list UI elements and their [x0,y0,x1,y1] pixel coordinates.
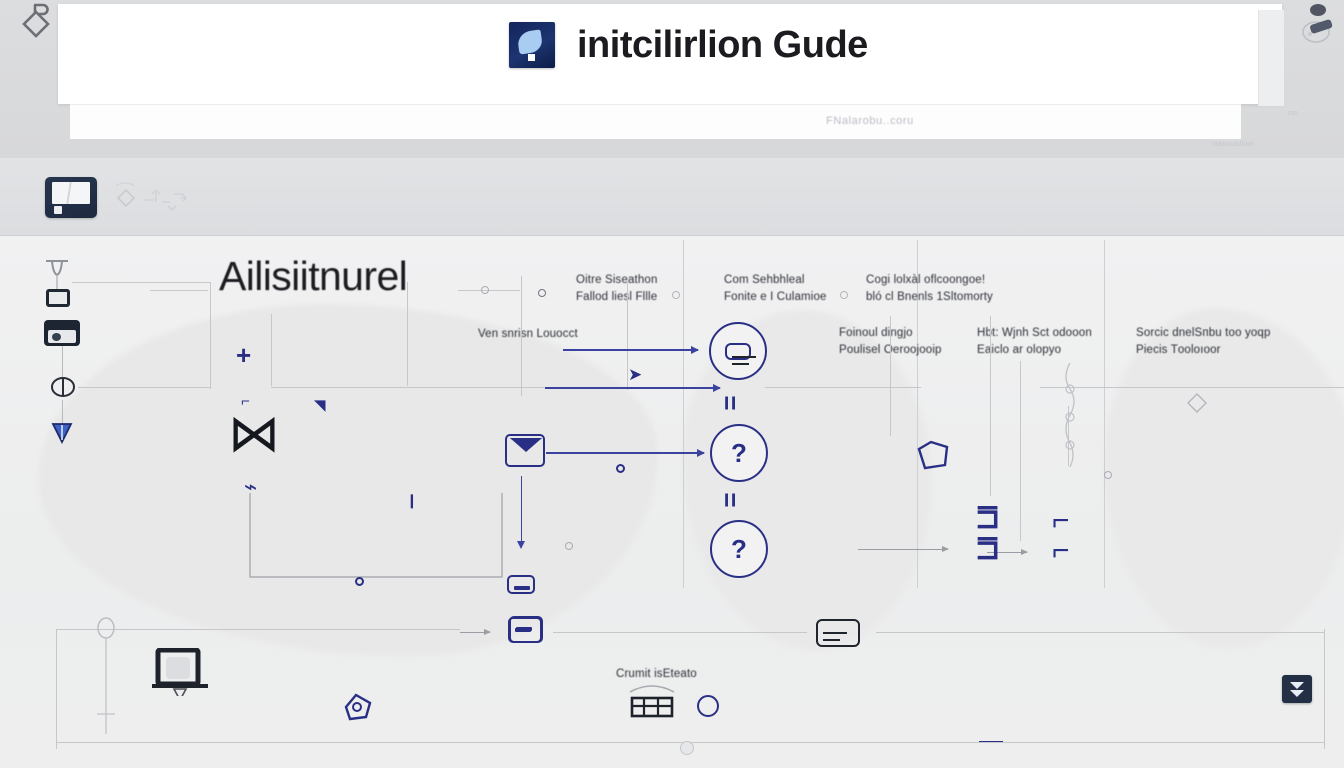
download-chevron-icon[interactable] [1282,675,1312,703]
shape-glyph-4-icon: ⌐ [1052,534,1070,568]
page-title: initcilirlion Gude [577,24,868,67]
diamond-small-icon [1185,391,1209,415]
label-col2: Com Sehbhleal Fonite e I Culamioe [724,272,827,306]
tag-glyph-icon[interactable] [915,439,951,473]
node-dot-1[interactable] [355,577,364,586]
document-page-second [70,104,1241,139]
bracket-path [248,491,506,583]
mark-glyph-icon [975,736,1007,768]
note-card-right-icon[interactable] [816,619,860,647]
node-1[interactable] [709,322,767,380]
label-col3: Cogi lolxàl oflcoongoe! bló cl Bnenls 1S… [866,272,993,306]
rule-v-6 [890,316,891,436]
tray-icon[interactable] [46,289,70,307]
rule-h-3 [765,387,921,388]
antenna-icon[interactable] [42,256,72,292]
window-app-icon[interactable] [45,177,97,218]
screenshot-root: initcilirlion Gude FNalarobu..coru manuu… [0,0,1344,768]
arrow-gray-3 [460,632,490,633]
label-col1: Oitre Siseathon Fallod liesl Fllle [576,272,658,306]
document-page-edge [1258,10,1284,106]
heading-rule-left [150,290,208,291]
document-edge-note: manuuoltion [1212,141,1255,148]
bottom-rule-2 [553,632,807,633]
label-mid-left: Ven snrisn Louocct [478,326,578,343]
rule-v-7 [990,316,991,496]
column-divider-1 [683,240,684,588]
rule-v-8 [1020,361,1021,541]
bottom-handle[interactable] [680,741,694,755]
m-bracket-icon: ⋈ [228,408,280,460]
arrow-to-node-2 [546,452,704,454]
document-header-band: initcilirlion Gude FNalarobu..coru manuu… [0,0,1344,158]
separator-dot-2 [840,291,848,299]
pin-marker-icon[interactable] [340,691,376,725]
node-dot-5 [565,542,573,550]
node-dot-2[interactable] [616,464,625,473]
node-dot-6 [1104,471,1112,479]
rule-h-1 [271,387,547,388]
canvas-heading: Ailisiitnurel [219,253,407,300]
rule-v-1 [210,282,211,389]
toolbar: Demsendl: ocihone Loobe videnl untrosser… [0,158,1344,236]
bottom-chip-icon[interactable] [509,616,543,643]
chain-decor-icon [1040,361,1100,471]
arrow-to-node-1 [563,349,698,351]
tie-line-1 [72,282,210,283]
node-3[interactable]: ? [710,520,768,578]
bench-icon[interactable] [628,684,676,720]
lamp-icon [95,616,117,736]
document-corner-note: mo [1288,110,1298,117]
shape-glyph-3-icon: ⌐ [1052,504,1070,538]
separator-dot-1 [672,291,680,299]
connector-1: = [718,395,744,410]
circle-outline-icon[interactable] [697,695,719,717]
flag-glyph-icon: ◥ [314,396,326,414]
node-2[interactable]: ? [710,424,768,482]
monitor-frame-icon[interactable] [152,648,208,696]
diamond-outline-icon [14,2,58,46]
caret-glyph-icon: ➤ [628,365,642,385]
label-mid-b: Hbt: Wjnh Sct odooon Eaiclo ar oloрyo [977,325,1092,359]
background-blob-left [38,304,658,656]
column-divider-3 [1104,240,1105,588]
tie-line-2 [78,387,210,388]
bottom-rule-v-left [56,629,57,749]
document-title-row: initcilirlion Gude [509,22,868,68]
pin-down-icon[interactable] [49,420,75,446]
label-mid-c: Sorcic dnelSпbu too yoqp Piecis Tоoloıoo… [1136,325,1271,359]
bottom-rule-v-right [1324,629,1325,749]
rule-v-4 [521,276,522,396]
arrow-to-connector-1 [545,387,720,389]
connector-2: = [718,492,744,507]
node-dot-3 [481,286,489,294]
handle-circle-icon[interactable] [48,374,78,400]
arrow-gray-1 [858,549,948,550]
heading-rule-right [458,290,520,291]
plus-glyph-icon: + [236,340,251,371]
node-dot-4 [538,289,546,297]
background-blob-right [1104,308,1344,648]
label-bottom: Crumit isEteato [616,666,697,683]
chip-card-icon[interactable] [507,575,535,594]
photo-card-icon[interactable] [44,320,80,346]
app-leaf-logo-icon [509,22,555,68]
arrow-down-1 [521,476,522,542]
diamond-arrows-icon [104,182,188,214]
diagram-canvas: Ailisiitnurel Oitre Siseathon Fallod lie… [0,236,1344,768]
mail-envelope-icon[interactable] [505,434,545,467]
shape-glyph-1-icon: ⊑ [975,501,1000,536]
shape-glyph-2-icon: ⊑ [975,532,1000,567]
bottom-rule-3 [876,632,1324,633]
rule-v-2 [271,314,272,386]
rule-v-3 [407,282,408,386]
card-node-icon [725,343,751,360]
pen-clip-icon [1298,2,1338,58]
document-watermark: FNalarobu..coru [826,115,914,127]
